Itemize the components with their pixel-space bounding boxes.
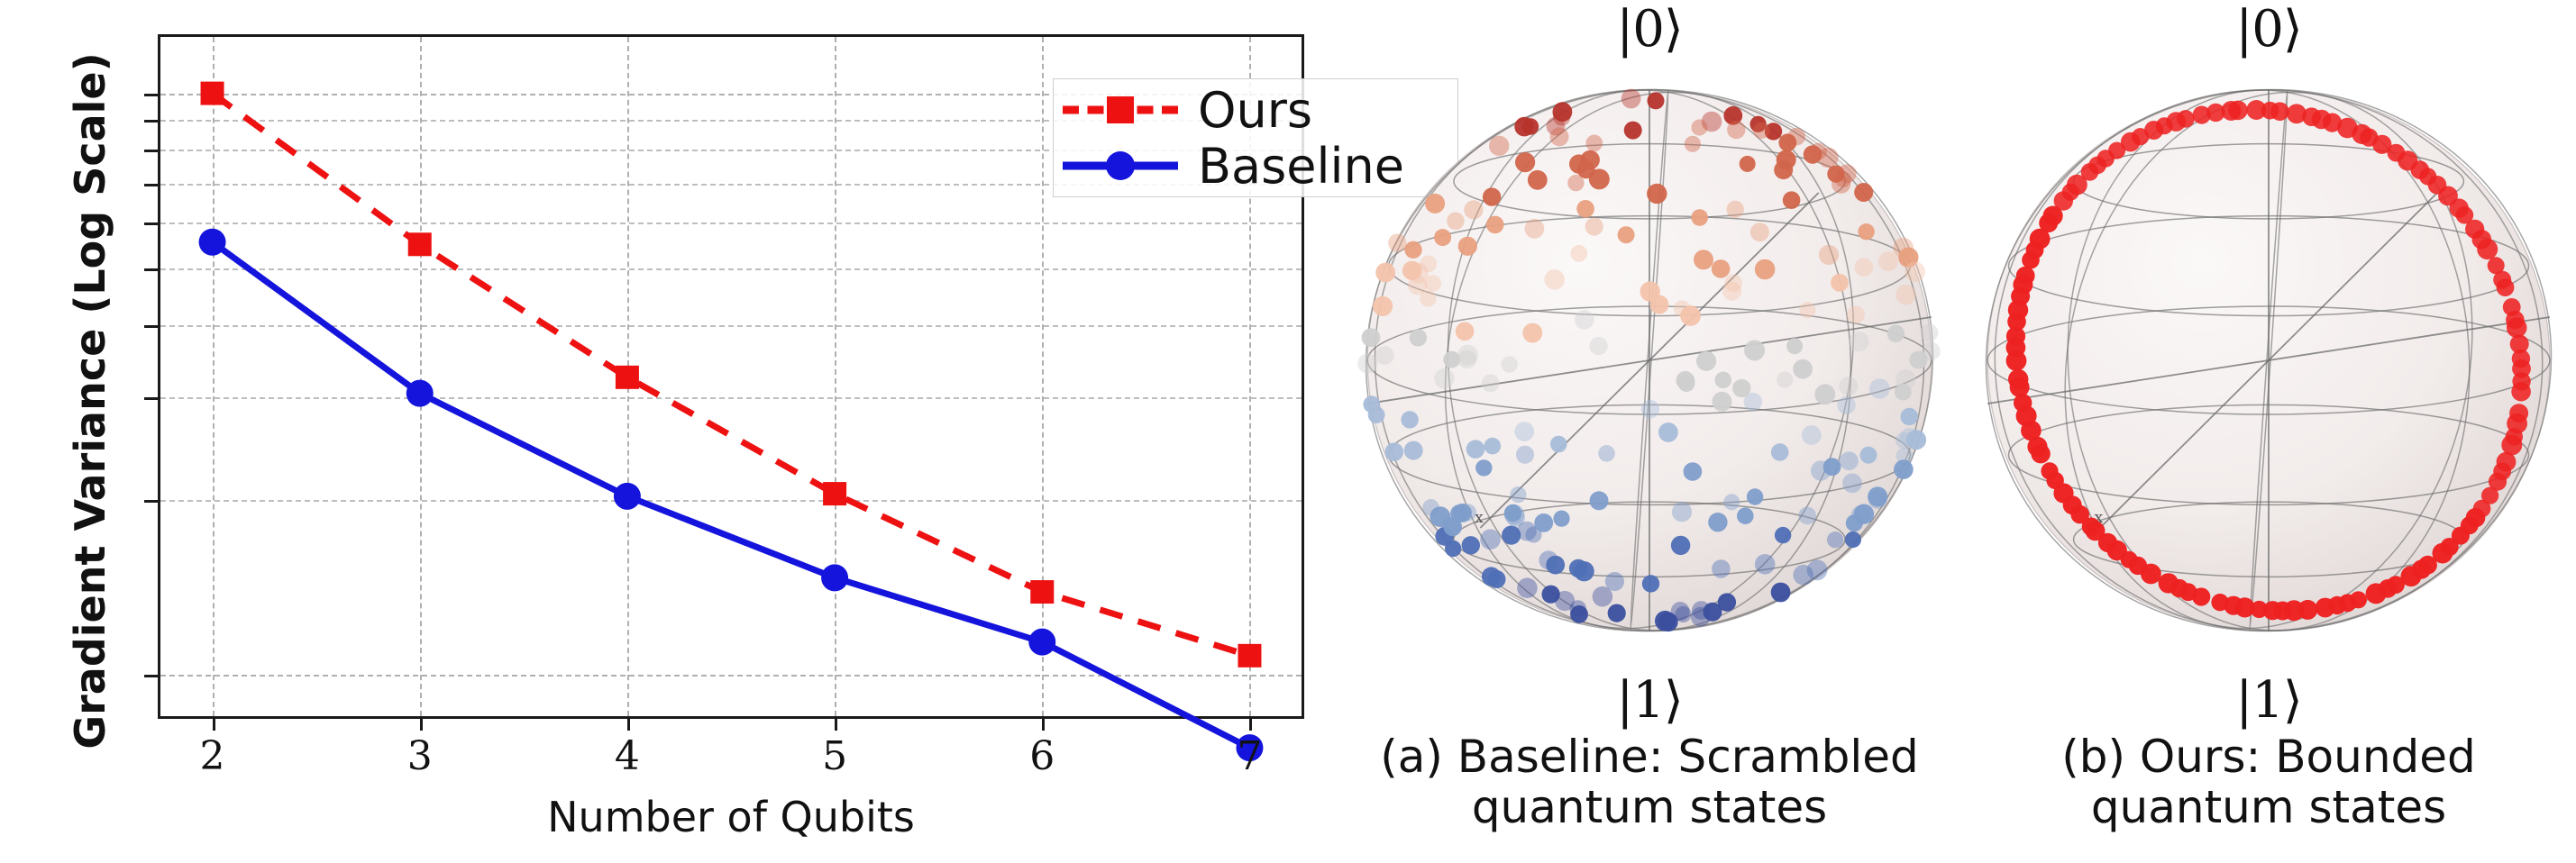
quantum-state-point (1723, 494, 1740, 510)
x-tick-mark (213, 716, 215, 731)
quantum-state-point (1793, 359, 1813, 379)
quantum-state-point (1482, 374, 1500, 392)
x-tick-label: 2 (200, 733, 225, 779)
quantum-state-point (2192, 587, 2210, 605)
quantum-state-point (1542, 586, 1560, 604)
quantum-state-point (1905, 261, 1925, 282)
quantum-state-point (1860, 447, 1877, 464)
plot-area: Ours Baseline (158, 34, 1304, 719)
legend-key-ours-icon (1063, 92, 1178, 128)
quantum-state-point (2022, 251, 2040, 269)
quantum-state-point (1893, 238, 1914, 259)
quantum-state-point (1385, 442, 1404, 461)
quantum-state-point (1534, 513, 1553, 532)
y-tick-mark (144, 268, 160, 271)
x-tick-label: 4 (615, 733, 640, 779)
data-point-ours[interactable] (616, 366, 639, 389)
quantum-state-point (1522, 323, 1542, 343)
quantum-state-point (1869, 378, 1890, 399)
quantum-state-point (1691, 209, 1708, 226)
x-tick-label: 7 (1237, 733, 1262, 779)
quantum-state-point (1574, 561, 1594, 581)
quantum-state-point (1840, 451, 1859, 470)
x-tick-mark (627, 716, 630, 731)
quantum-state-point (1799, 302, 1815, 318)
quantum-state-point (1849, 332, 1868, 351)
quantum-state-point (1489, 136, 1509, 156)
quantum-state-point (1802, 425, 1822, 445)
quantum-state-point (1434, 229, 1451, 246)
x-tick-label: 6 (1029, 733, 1055, 779)
quantum-state-point (1671, 536, 1690, 555)
quantum-state-point (2287, 104, 2307, 123)
quantum-state-point (1842, 473, 1862, 493)
gradient-variance-chart: Gradient Variance (Log Scale) Ours Basel… (0, 0, 1325, 863)
bloch-panel-baseline: |0⟩ x |1⟩ (a) Baseline: Scrambled quantu… (1343, 0, 1956, 863)
quantum-state-point (1514, 117, 1534, 137)
quantum-state-point (1404, 241, 1421, 259)
data-point-ours[interactable] (1238, 644, 1261, 668)
quantum-state-point (1464, 200, 1483, 219)
quantum-state-point (1901, 408, 1919, 426)
quantum-state-point (1589, 337, 1607, 355)
quantum-state-point (1696, 351, 1716, 371)
quantum-state-point (1458, 237, 1477, 256)
quantum-state-point (1624, 122, 1642, 140)
quantum-state-point (1569, 600, 1586, 617)
quantum-state-point (1550, 436, 1567, 453)
quantum-state-point (1724, 274, 1742, 292)
quantum-state-point (1747, 488, 1763, 504)
x-tick-mark (1042, 716, 1045, 731)
quantum-state-point (1727, 121, 1745, 139)
quantum-state-point (1737, 507, 1754, 524)
quantum-state-point (1514, 422, 1534, 441)
quantum-state-point (1839, 377, 1858, 395)
caption-a-line1: (a) Baseline: Scrambled (1380, 731, 1919, 783)
quantum-state-point (1845, 531, 1861, 548)
quantum-state-point (1847, 305, 1865, 323)
quantum-state-point (1434, 368, 1454, 388)
quantum-state-point (1515, 152, 1535, 172)
quantum-state-point (1658, 422, 1678, 442)
quantum-state-point (2031, 444, 2050, 463)
quantum-state-point (1373, 296, 1393, 316)
quantum-state-point (1420, 256, 1437, 273)
quantum-state-point (1894, 459, 1914, 479)
quantum-state-point (2006, 350, 2027, 371)
quantum-state-point (1647, 184, 1667, 204)
quantum-state-point (2297, 600, 2317, 620)
quantum-state-point (1807, 559, 1828, 580)
quantum-state-point (1771, 443, 1789, 461)
x-tick-mark (1249, 716, 1252, 731)
quantum-state-point (1827, 531, 1843, 548)
quantum-state-point (1819, 245, 1839, 265)
quantum-state-point (1516, 446, 1534, 464)
quantum-state-point (1691, 119, 1707, 135)
bloch-sphere-b: x (1963, 36, 2574, 685)
quantum-state-point (1375, 263, 1395, 283)
quantum-state-point (1712, 559, 1731, 578)
quantum-state-point (1649, 295, 1668, 314)
quantum-state-point (1750, 223, 1769, 241)
quantum-state-point (1878, 251, 1898, 271)
quantum-state-point (1715, 372, 1732, 389)
ket-one-label-b: |1⟩ (1963, 671, 2574, 730)
quantum-state-point (1755, 259, 1776, 280)
caption-b-line2: quantum states (1963, 782, 2574, 832)
quantum-state-point (1920, 323, 1938, 341)
quantum-state-point (1786, 338, 1803, 354)
data-point-ours[interactable] (201, 82, 224, 105)
y-axis-title: Gradient Variance (Log Scale) (66, 41, 114, 761)
quantum-state-point (1895, 432, 1912, 449)
quantum-state-point (1410, 329, 1427, 346)
quantum-state-point (1443, 518, 1462, 537)
quantum-state-point (2512, 359, 2531, 378)
quantum-state-point (1846, 514, 1863, 531)
quantum-state-point (1823, 458, 1841, 476)
quantum-state-point (1694, 250, 1713, 269)
quantum-state-point (1577, 161, 1595, 179)
legend-key-baseline-icon (1063, 148, 1178, 184)
series-line-baseline (213, 242, 1250, 748)
data-point-baseline[interactable] (199, 229, 226, 256)
quantum-state-point (1713, 392, 1732, 412)
quantum-state-point (1456, 322, 1475, 341)
quantum-state-point (1910, 351, 1928, 369)
data-point-baseline[interactable] (614, 483, 641, 510)
y-tick-mark (144, 150, 160, 152)
quantum-state-point (1575, 310, 1594, 330)
caption-a: (a) Baseline: Scrambled quantum states (1343, 731, 1956, 832)
data-point-baseline[interactable] (821, 564, 848, 591)
quantum-state-point (1854, 183, 1873, 202)
quantum-state-point (1517, 577, 1538, 598)
quantum-state-point (1539, 550, 1557, 569)
quantum-state-point (1480, 529, 1501, 550)
quantum-state-point (1655, 611, 1676, 631)
y-tick-mark (144, 397, 160, 400)
quantum-state-point (1362, 328, 1381, 347)
y-tick-mark (144, 325, 160, 328)
quantum-state-point (1550, 127, 1569, 146)
quantum-state-point (1744, 341, 1765, 361)
quantum-state-point (1593, 586, 1613, 607)
quantum-state-point (1618, 226, 1635, 243)
quantum-state-point (1740, 156, 1756, 172)
quantum-state-point (1775, 527, 1791, 543)
quantum-state-point (1447, 213, 1465, 231)
quantum-state-point (1777, 150, 1796, 169)
quantum-state-point (1855, 258, 1874, 277)
quantum-state-point (1401, 411, 1418, 428)
quantum-state-point (1621, 89, 1641, 109)
quantum-state-point (1814, 384, 1835, 404)
quantum-state-point (1712, 259, 1731, 278)
quantum-state-point (1708, 513, 1727, 531)
quantum-state-point (1459, 504, 1476, 521)
quantum-state-point (1504, 504, 1525, 525)
data-point-baseline[interactable] (1028, 629, 1055, 656)
data-point-ours[interactable] (408, 232, 432, 256)
quantum-state-point (2488, 257, 2505, 274)
quantum-state-point (1685, 136, 1701, 152)
caption-a-line2: quantum states (1343, 782, 1956, 832)
y-tick-mark (144, 184, 160, 186)
quantum-state-point (1466, 440, 1485, 459)
quantum-state-point (1553, 511, 1569, 527)
quantum-state-point (1753, 123, 1770, 140)
quantum-state-point (1818, 148, 1839, 168)
figure-root: Gradient Variance (Log Scale) Ours Basel… (0, 0, 2576, 863)
quantum-state-point (1544, 269, 1565, 290)
y-tick-mark (144, 675, 160, 677)
quantum-state-point (1672, 502, 1692, 522)
quantum-state-point (1357, 353, 1377, 373)
quantum-state-point (2246, 100, 2266, 120)
quantum-state-point (1585, 217, 1603, 235)
quantum-state-point (1528, 170, 1548, 190)
quantum-state-point (1771, 583, 1791, 603)
y-tick-mark (144, 223, 160, 225)
quantum-state-point (1868, 491, 1886, 509)
quantum-state-point (1488, 570, 1506, 588)
data-point-ours[interactable] (823, 482, 846, 505)
quantum-state-point (1475, 459, 1492, 476)
quantum-state-point (1502, 356, 1518, 372)
quantum-state-point (1798, 507, 1816, 525)
y-tick-mark (144, 120, 160, 123)
quantum-state-point (1363, 395, 1380, 413)
quantum-state-point (1457, 350, 1476, 368)
quantum-state-point (1553, 108, 1571, 126)
quantum-state-point (1404, 441, 1423, 460)
quantum-state-point (1755, 554, 1776, 575)
quantum-state-point (1648, 92, 1665, 109)
quantum-state-point (1727, 201, 1744, 218)
quantum-state-point (1684, 462, 1703, 481)
quantum-state-point (1484, 438, 1502, 455)
quantum-state-point (1788, 128, 1806, 146)
quantum-state-point (1585, 135, 1603, 152)
quantum-state-point (1887, 325, 1905, 342)
quantum-state-point (1835, 171, 1851, 187)
bloch-sphere-a: x (1343, 36, 1956, 685)
quantum-state-point (1388, 233, 1406, 251)
quantum-state-point (2010, 377, 2030, 397)
quantum-state-point (1831, 274, 1849, 292)
quantum-state-point (1680, 305, 1701, 326)
quantum-state-point (1570, 245, 1587, 262)
y-tick-mark (144, 94, 160, 96)
quantum-state-point (1462, 536, 1480, 554)
quantum-state-point (2350, 591, 2367, 608)
caption-b-line1: (b) Ours: Bounded (2061, 731, 2476, 783)
quantum-state-point (1895, 285, 1916, 305)
x-tick-mark (420, 716, 423, 731)
quantum-state-point (2141, 564, 2161, 585)
y-tick-mark (144, 500, 160, 503)
bloch-sphere-b-graphic: x (1963, 36, 2574, 685)
quantum-state-point (1576, 200, 1594, 218)
quantum-state-point (1525, 219, 1545, 239)
quantum-state-point (1641, 400, 1660, 419)
ket-one-label-a: |1⟩ (1343, 671, 1956, 730)
quantum-state-point (1783, 191, 1801, 209)
quantum-state-point (1837, 396, 1855, 414)
quantum-state-point (1608, 604, 1626, 622)
x-tick-label: 3 (407, 733, 433, 779)
legend-label-ours: Ours (1198, 82, 1312, 139)
quantum-state-point (1642, 575, 1659, 592)
quantum-state-point (1483, 187, 1501, 205)
bloch-sphere-a-graphic: x (1343, 36, 1956, 685)
data-point-ours[interactable] (1030, 580, 1054, 604)
quantum-state-point (1425, 194, 1445, 213)
quantum-state-point (2503, 298, 2521, 316)
x-tick-label: 5 (822, 733, 847, 779)
quantum-state-point (1590, 491, 1609, 510)
bloch-panel-ours: |0⟩ x |1⟩ (b) Ours: Bounded quantum stat… (1963, 0, 2574, 863)
quantum-state-point (1517, 522, 1537, 541)
quantum-state-point (1732, 379, 1750, 397)
caption-b: (b) Ours: Bounded quantum states (1963, 731, 2574, 832)
quantum-state-point (2509, 404, 2528, 422)
quantum-state-point (1895, 369, 1915, 389)
quantum-state-point (1375, 346, 1394, 365)
quantum-state-point (1486, 216, 1504, 234)
quantum-state-point (2193, 106, 2211, 124)
quantum-state-point (1777, 371, 1793, 387)
quantum-state-point (1443, 351, 1460, 368)
quantum-state-point (1598, 445, 1615, 462)
x-tick-mark (835, 716, 837, 731)
quantum-state-point (1704, 603, 1722, 622)
quantum-state-point (1510, 486, 1526, 503)
data-point-baseline[interactable] (406, 380, 434, 407)
quantum-state-point (1858, 223, 1874, 240)
x-axis-title: Number of Qubits (158, 793, 1304, 841)
quantum-state-point (1678, 375, 1695, 392)
